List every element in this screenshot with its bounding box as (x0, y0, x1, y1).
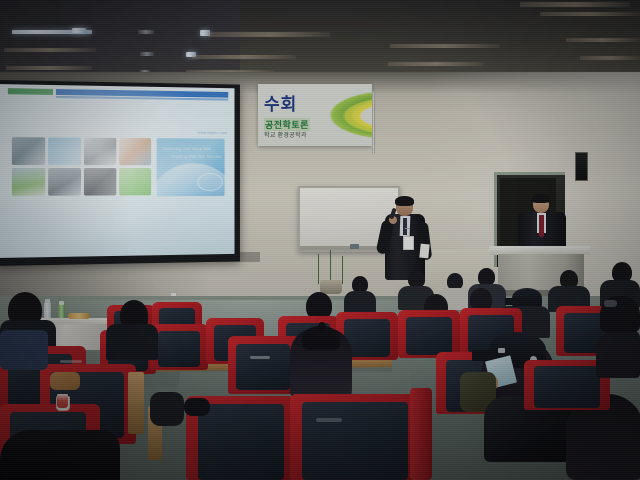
banner-chevron-yellow (334, 94, 372, 138)
ceiling-light-fixture (390, 44, 500, 48)
orchid-stem (318, 254, 319, 284)
orchid-bloom (345, 258, 352, 264)
orchid-stem (330, 250, 331, 284)
seat-cushion[interactable] (534, 366, 600, 408)
water-bottle-green (58, 304, 65, 319)
seat-cushion[interactable] (158, 331, 200, 367)
seat-highlight (316, 418, 342, 422)
lecture-hall-photo: 수회 공전학토론 학교 환경공학과 www.kapec.com Deliveri… (0, 0, 640, 480)
orchid-bloom (313, 252, 320, 258)
presenter-paper (419, 244, 429, 259)
orchid-bloom (316, 262, 323, 268)
ceiling-light-fixture (4, 48, 96, 52)
seat-cushion[interactable] (406, 317, 452, 355)
ceiling-light-fixture (138, 30, 154, 34)
cap-side-logo-icon (498, 348, 505, 353)
presenter-at-podium-hair (532, 194, 550, 203)
audience-denim-jacket (0, 330, 48, 370)
orchid-stem (342, 256, 343, 284)
seat-highlight (250, 356, 270, 359)
orchid-bloom (327, 260, 334, 266)
ceiling-light-fixture (540, 12, 640, 16)
bottle-cap (59, 301, 64, 305)
ceiling-light-fixture (566, 38, 640, 42)
ceiling-light-fixture (140, 52, 154, 56)
ceiling-light-fixture (192, 55, 296, 59)
orchid-bloom (322, 248, 329, 254)
seat-cushion[interactable] (302, 402, 408, 480)
ceiling-light-fixture (208, 32, 330, 37)
orchid-bloom (320, 272, 327, 278)
audience-foreground-figure (0, 430, 120, 480)
wall-banner: 수회 공전학토론 학교 환경공학과 (258, 84, 372, 146)
whiteboard-eraser (350, 244, 359, 249)
presenter-at-podium-tie (539, 215, 544, 237)
snack-tray (68, 313, 90, 319)
audience-shoulders (344, 291, 376, 313)
ceiling-light-fixture (520, 2, 630, 7)
banner-title: 수회 (264, 96, 297, 113)
ceiling-light-fixture (6, 66, 92, 70)
bottle-cap (45, 299, 50, 303)
wall-mounted-speaker (575, 152, 588, 181)
seat-cushion[interactable] (236, 344, 290, 390)
ceiling-light-fixture (388, 62, 484, 66)
eyeglasses-icon (604, 300, 617, 307)
red-paper-cup (57, 394, 68, 408)
banner-line3: 학교 환경공학과 (264, 130, 307, 139)
name-badge (403, 236, 414, 250)
seat-armrest[interactable] (128, 372, 144, 434)
audience-shoulders (150, 392, 184, 426)
water-bottle-clear (44, 302, 51, 319)
audience-shoulders (106, 324, 158, 360)
orchid-bloom (331, 246, 338, 252)
orchid-bloom (340, 252, 347, 258)
seat-cushion[interactable] (198, 404, 284, 480)
hair-tie (318, 322, 326, 332)
cap-brim (505, 298, 521, 305)
audience-shoe (184, 398, 210, 416)
audience-shoulders (596, 330, 640, 378)
projection-screen-frame: www.kapec.com Delivering Your Value Now … (0, 80, 240, 266)
projection-screen: www.kapec.com Delivering Your Value Now … (0, 84, 235, 258)
ceiling-light-fixture (72, 28, 86, 33)
seat-highlight (60, 360, 82, 363)
projector-glow (0, 84, 235, 258)
presenter-hair (395, 196, 414, 206)
orchid-bloom (337, 264, 344, 270)
ceiling-light-fixture (580, 56, 640, 60)
seat-edge[interactable] (410, 388, 432, 480)
banner-support-pole (372, 92, 375, 154)
audience-hand-sleeve (50, 372, 80, 390)
